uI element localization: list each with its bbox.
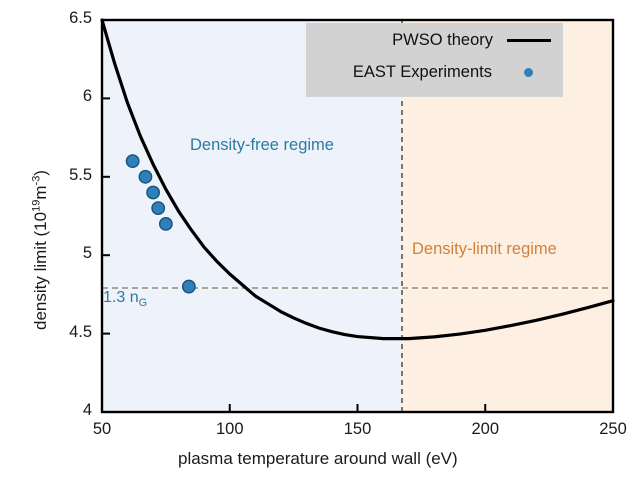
legend: PWSO theory EAST Experiments xyxy=(306,23,563,97)
y-tick-label: 5.5 xyxy=(69,166,92,185)
data-point xyxy=(147,186,159,198)
legend-label-pwso-theory: PWSO theory xyxy=(392,31,493,50)
annotation-greenwald-threshold: 1.3 nG xyxy=(103,289,147,309)
y-axis-title-text: density limit (1019m-3) xyxy=(31,170,50,330)
x-tick-label: 150 xyxy=(328,420,388,439)
legend-entry-pwso-theory: PWSO theory xyxy=(306,31,563,50)
annotation-density-free-regime: Density-free regime xyxy=(190,136,334,155)
legend-dot-swatch xyxy=(524,68,533,77)
data-point xyxy=(139,171,151,183)
x-axis-title: plasma temperature around wall (eV) xyxy=(178,449,458,469)
y-tick-label: 6 xyxy=(83,87,92,106)
x-tick-label: 250 xyxy=(583,420,640,439)
data-point xyxy=(152,202,164,214)
x-tick-label: 100 xyxy=(200,420,260,439)
data-point xyxy=(126,155,138,167)
data-point xyxy=(183,280,195,292)
legend-label-east-experiments: EAST Experiments xyxy=(353,63,492,82)
y-tick-label: 4 xyxy=(83,401,92,420)
x-tick-label: 50 xyxy=(72,420,132,439)
y-tick-label: 6.5 xyxy=(69,9,92,28)
x-tick-label: 200 xyxy=(455,420,515,439)
y-tick-label: 5 xyxy=(83,244,92,263)
data-point xyxy=(160,218,172,230)
chart-figure: 44.555.566.5 50100150200250 density limi… xyxy=(0,0,640,480)
y-axis-title: density limit (1019m-3) xyxy=(30,170,51,330)
greenwald-threshold-main: 1.3 n xyxy=(103,289,139,306)
legend-entry-east-experiments: EAST Experiments xyxy=(306,63,563,82)
annotation-density-limit-regime: Density-limit regime xyxy=(412,240,557,259)
legend-line-swatch xyxy=(507,39,551,42)
y-tick-label: 4.5 xyxy=(69,323,92,342)
greenwald-threshold-sub: G xyxy=(139,297,148,309)
